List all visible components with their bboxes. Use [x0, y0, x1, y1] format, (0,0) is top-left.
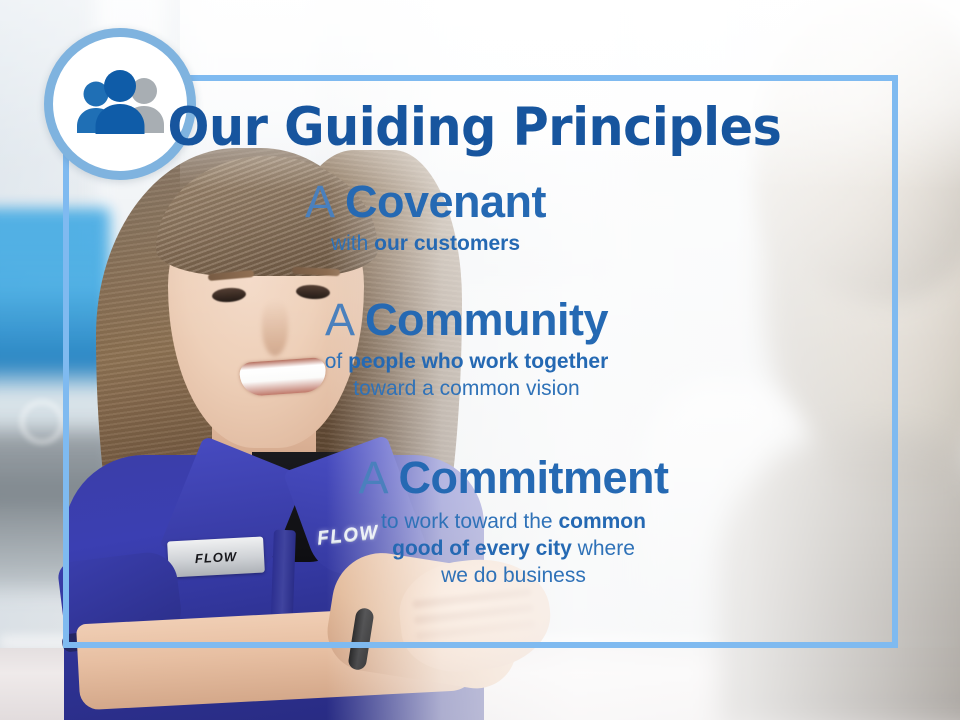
principle-article: A	[325, 294, 365, 345]
principle-keyword: Commitment	[399, 452, 669, 503]
principle-subtext-line: of people who work together	[63, 349, 870, 376]
principle-covenant: A Covenant with our customers	[63, 179, 898, 258]
principle-subtext-line: with our customers	[63, 231, 788, 258]
principle-heading: A Community	[63, 297, 870, 343]
principle-subtext-line: to work toward the common	[129, 509, 898, 536]
principle-subtext-line: toward a common vision	[63, 376, 870, 403]
principle-heading: A Commitment	[129, 455, 898, 501]
principle-subtext: with our customers	[63, 231, 788, 258]
principle-subtext-line: we do business	[129, 563, 898, 590]
principle-subtext: to work toward the common good of every …	[129, 509, 898, 590]
principle-keyword: Community	[365, 294, 608, 345]
principle-community: A Community of people who work together …	[63, 297, 898, 403]
text-overlay: Our Guiding Principles A Covenant with o…	[63, 75, 898, 648]
principle-subtext-line: good of every city where	[129, 536, 898, 563]
principle-article: A	[358, 452, 398, 503]
page-title: Our Guiding Principles	[92, 101, 857, 154]
poster-canvas: FLOW FLOW Our Guiding Principles	[0, 0, 960, 720]
principle-commitment: A Commitment to work toward the common g…	[63, 455, 898, 590]
principle-heading: A Covenant	[63, 179, 788, 225]
principle-keyword: Covenant	[345, 176, 546, 227]
principle-article: A	[305, 176, 345, 227]
principle-subtext: of people who work together toward a com…	[63, 349, 870, 403]
